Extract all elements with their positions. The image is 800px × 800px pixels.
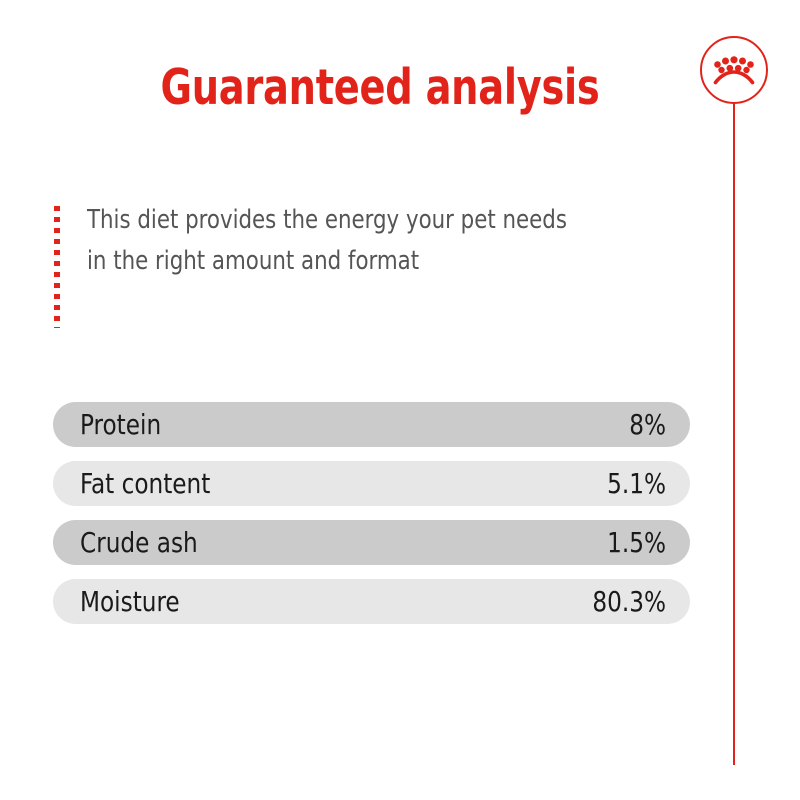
analysis-value: 5.1% bbox=[607, 461, 666, 506]
table-row: Fat content 5.1% bbox=[53, 461, 690, 506]
table-row: Crude ash 1.5% bbox=[53, 520, 690, 565]
table-row: Moisture 80.3% bbox=[53, 579, 690, 624]
intro-block: This diet provides the energy your pet n… bbox=[54, 200, 674, 330]
analysis-value: 80.3% bbox=[592, 579, 666, 624]
analysis-label: Moisture bbox=[80, 579, 180, 624]
analysis-value: 8% bbox=[629, 402, 666, 447]
page-title: Guaranteed analysis bbox=[49, 58, 710, 118]
table-row: Protein 8% bbox=[53, 402, 690, 447]
brand-vertical-rule bbox=[733, 104, 735, 765]
guaranteed-analysis-table: Protein 8% Fat content 5.1% Crude ash 1.… bbox=[53, 402, 690, 624]
intro-line-1: This diet provides the energy your pet n… bbox=[87, 200, 631, 241]
analysis-label: Fat content bbox=[80, 461, 210, 506]
guaranteed-analysis-panel: Guaranteed analysis This diet provides t… bbox=[0, 0, 800, 800]
intro-text: This diet provides the energy your pet n… bbox=[87, 200, 631, 282]
royal-canin-crown-icon bbox=[713, 55, 755, 85]
intro-line-2: in the right amount and format bbox=[87, 241, 631, 282]
dotted-vertical-rule-icon bbox=[54, 206, 60, 328]
analysis-label: Crude ash bbox=[80, 520, 198, 565]
analysis-label: Protein bbox=[80, 402, 161, 447]
analysis-value: 1.5% bbox=[607, 520, 666, 565]
